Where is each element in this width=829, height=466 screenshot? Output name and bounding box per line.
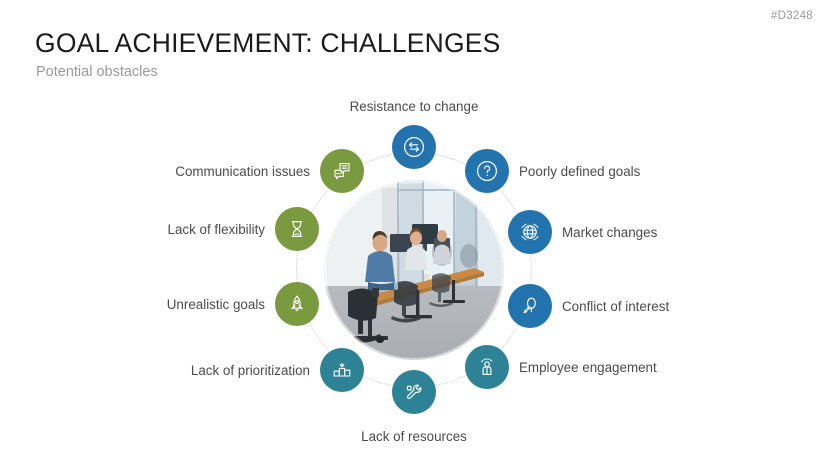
center-photo (324, 180, 504, 360)
node-label: Lack of prioritization (191, 364, 310, 377)
question-mark-icon (475, 159, 499, 183)
node-label: Resistance to change (350, 100, 479, 113)
podium-icon (330, 358, 354, 382)
node-bubble[interactable] (392, 370, 436, 414)
hourglass-icon (285, 217, 309, 241)
exchange-arrows-icon (402, 135, 426, 159)
node-bubble[interactable] (508, 210, 552, 254)
conflict-icon (518, 294, 542, 318)
speech-bubbles-icon (330, 159, 354, 183)
node-bubble[interactable] (465, 149, 509, 193)
node-bubble[interactable] (508, 284, 552, 328)
employee-icon (475, 355, 499, 379)
node-label: Lack of resources (361, 430, 467, 443)
node-label: Unrealistic goals (167, 298, 265, 311)
slide-canvas: #D3248 GOAL ACHIEVEMENT: CHALLENGES Pote… (0, 0, 829, 466)
node-label: Employee engagement (519, 361, 657, 374)
node-bubble[interactable] (320, 348, 364, 392)
node-bubble[interactable] (465, 345, 509, 389)
node-label: Poorly defined goals (519, 165, 640, 178)
node-bubble[interactable] (392, 125, 436, 169)
node-label: Lack of flexibility (168, 223, 266, 236)
radial-diagram: Resistance to change Poorly defined goal… (0, 0, 829, 466)
node-label: Conflict of interest (562, 300, 669, 313)
node-label: Communication issues (175, 165, 310, 178)
node-bubble[interactable] (275, 207, 319, 251)
node-bubble[interactable] (275, 282, 319, 326)
node-label: Market changes (562, 226, 657, 239)
wrench-icon (402, 380, 426, 404)
rocket-icon (285, 292, 309, 316)
node-bubble[interactable] (320, 149, 364, 193)
globe-icon (518, 220, 542, 244)
